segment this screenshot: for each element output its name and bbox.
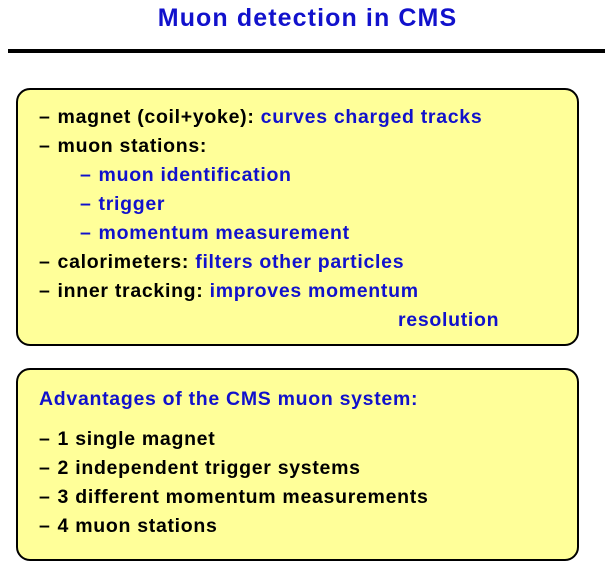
advantage-list-item: –4 muon stations: [39, 517, 218, 537]
bullet-dash-icon: –: [39, 459, 51, 479]
bullet-dash-icon: –: [39, 430, 51, 450]
item-label: calorimeters:: [58, 251, 190, 273]
list-item-inner-tracking: –inner tracking: improves momentum: [39, 282, 419, 302]
advantage-label: 3 different momentum measurements: [58, 486, 429, 508]
item-label: inner tracking:: [58, 280, 204, 302]
sub-item-label: trigger: [99, 193, 166, 215]
list-item-magnet: –magnet (coil+yoke): curves charged trac…: [39, 108, 482, 128]
sub-item-label: momentum measurement: [99, 222, 350, 244]
sub-item-label: muon identification: [99, 164, 292, 186]
bullet-dash-icon: –: [39, 137, 51, 157]
bullet-dash-icon: –: [39, 517, 51, 537]
sub-list-item-momentum-measurement: –momentum measurement: [80, 224, 350, 244]
bullet-dash-icon: –: [80, 224, 92, 244]
item-detail: curves charged tracks: [261, 106, 483, 128]
advantage-list-item: –2 independent trigger systems: [39, 459, 361, 479]
list-item-calorimeters: –calorimeters: filters other particles: [39, 253, 404, 273]
muon-detection-panel: –magnet (coil+yoke): curves charged trac…: [16, 88, 579, 346]
advantages-panel: Advantages of the CMS muon system: –1 si…: [16, 368, 579, 561]
bullet-dash-icon: –: [39, 108, 51, 128]
bullet-dash-icon: –: [39, 282, 51, 302]
bullet-dash-icon: –: [80, 195, 92, 215]
advantage-list-item: –3 different momentum measurements: [39, 488, 429, 508]
item-detail: improves momentum: [210, 280, 419, 302]
item-detail-continuation: resolution: [398, 311, 499, 331]
bullet-dash-icon: –: [39, 488, 51, 508]
sub-list-item-trigger: –trigger: [80, 195, 165, 215]
bullet-dash-icon: –: [39, 253, 51, 273]
title-divider: [8, 49, 605, 53]
list-item-muon-stations: –muon stations:: [39, 137, 207, 157]
sub-list-item-muon-identification: –muon identification: [80, 166, 292, 186]
advantage-label: 1 single magnet: [58, 428, 216, 450]
advantage-label: 4 muon stations: [58, 515, 218, 537]
item-label: magnet (coil+yoke):: [58, 106, 255, 128]
advantages-heading: Advantages of the CMS muon system:: [39, 390, 418, 410]
advantage-list-item: –1 single magnet: [39, 430, 215, 450]
item-label: muon stations:: [58, 135, 208, 157]
bullet-dash-icon: –: [80, 166, 92, 186]
advantage-label: 2 independent trigger systems: [58, 457, 361, 479]
page-title: Muon detection in CMS: [0, 4, 615, 33]
item-detail: filters other particles: [195, 251, 404, 273]
